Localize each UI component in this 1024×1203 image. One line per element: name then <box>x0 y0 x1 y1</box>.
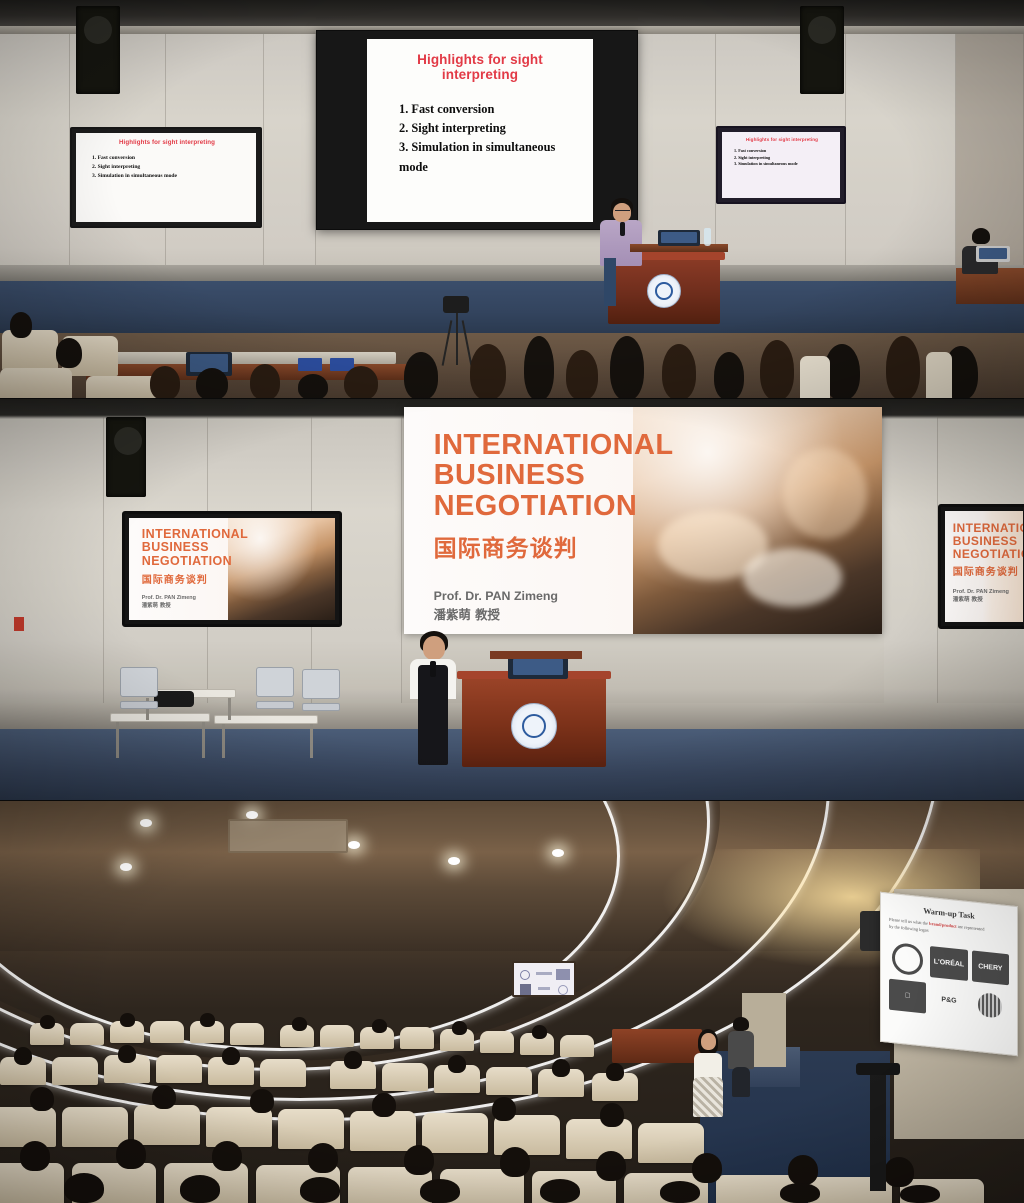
audience-head <box>470 344 506 399</box>
seat <box>494 1115 560 1155</box>
tripod-leg <box>462 320 473 366</box>
presenter-name-cn: 潘紫萌 教授 <box>953 596 1023 604</box>
slide-text-block: INTERNATIONAL BUSINESS NEGOTIATION 国际商务谈… <box>434 430 663 624</box>
right-wall-monitor: Highlights for sight interpreting 1. Fas… <box>716 126 846 204</box>
audience-head <box>10 312 32 338</box>
assistant-torso <box>728 1031 754 1069</box>
audience-head <box>30 1087 54 1111</box>
slide-title: Highlights for sight interpreting <box>383 52 577 82</box>
audience-head <box>180 1175 220 1203</box>
slide-sight-interpreting-mirror: Highlights for sight interpreting 1. Fas… <box>76 133 256 222</box>
audience-head <box>292 1017 307 1031</box>
host-checkered-dress <box>693 1077 723 1117</box>
slide-sight-interpreting-mirror: Highlights for sight interpreting 1. Fas… <box>722 132 840 198</box>
subtitle-emphasis: brand/product <box>929 921 957 929</box>
slide-presenter: Prof. Dr. PAN Zimeng 潘紫萌 教授 <box>953 588 1023 604</box>
wall-panel <box>264 34 316 304</box>
right-wall-monitor: INTERNATIONAL BUSINESS NEGOTIATION 国际商务谈… <box>938 504 1024 629</box>
slide-title-chinese: 国际商务谈判 <box>142 571 241 586</box>
slide-bullet: 3. Simulation in simultaneous mode <box>734 161 836 168</box>
slide-bullet: 2. Sight interpreting <box>399 119 577 138</box>
presenter-name-en: Prof. Dr. PAN Zimeng <box>142 595 241 603</box>
table-leg <box>228 698 231 720</box>
audience-head <box>420 1179 460 1203</box>
slide-business-negotiation: INTERNATIONAL BUSINESS NEGOTIATION 国际商务谈… <box>404 407 882 634</box>
stage-assistant <box>726 1017 756 1097</box>
audience-head <box>492 1097 516 1121</box>
panel-auditorium-wide: Warm-up Task Please tell us what the bra… <box>0 801 1024 1203</box>
laptop <box>508 657 568 679</box>
audience-head <box>372 1093 396 1117</box>
audience-head <box>150 366 180 399</box>
audience-head <box>524 336 554 399</box>
photo-blob <box>743 548 842 607</box>
seat <box>566 1119 632 1159</box>
podium-shelf <box>490 651 582 659</box>
photo-collage: Highlights for sight interpreting 1. Fas… <box>0 0 1024 1203</box>
main-projection-screen: INTERNATIONAL BUSINESS NEGOTIATION 国际商务谈… <box>404 407 882 634</box>
seat <box>0 1107 56 1147</box>
slide-title-line1: INTERNATIONAL <box>434 429 674 461</box>
display-block <box>520 984 531 995</box>
seat <box>52 1057 98 1085</box>
ceiling-spotlight <box>448 857 460 865</box>
ceiling-spotlight <box>120 863 132 871</box>
university-crest-icon <box>647 274 681 308</box>
host-head <box>701 1033 716 1050</box>
chair-back <box>302 669 340 699</box>
ceiling-speaker <box>76 6 120 94</box>
laptop <box>658 230 700 246</box>
slide-bullet: 3. Simulation in simultaneous mode <box>92 172 250 181</box>
chair <box>302 669 340 723</box>
main-projection-screen: Highlights for sight interpreting 1. Fas… <box>367 39 593 222</box>
seat <box>2 330 58 370</box>
seat <box>560 1035 594 1057</box>
audience-head <box>212 1141 242 1171</box>
slide-business-negotiation-mirror: INTERNATIONAL BUSINESS NEGOTIATION 国际商务谈… <box>945 511 1023 622</box>
seat <box>156 1055 202 1083</box>
panel-business-negotiation: INTERNATIONAL BUSINESS NEGOTIATION 国际商务谈… <box>0 399 1024 801</box>
glasses-icon <box>615 210 630 213</box>
slide-title-line1: INTERNATIONAL <box>142 527 248 541</box>
monitor-screen: Highlights for sight interpreting 1. Fas… <box>76 133 256 222</box>
display-block <box>556 969 570 980</box>
presenter-name-cn: 潘紫萌 教授 <box>434 606 663 625</box>
camera-tripod <box>440 296 474 366</box>
ceiling-air-vent <box>228 819 348 853</box>
slide-text-block: INTERNATIONAL BUSINESS NEGOTIATION 国际商务谈… <box>953 522 1023 604</box>
audience-head <box>152 1085 176 1109</box>
seat <box>206 1107 272 1147</box>
audience-head <box>20 1141 50 1171</box>
table-leg <box>222 724 225 758</box>
seat <box>422 1113 488 1153</box>
apple-logo-icon:  <box>889 979 926 1014</box>
shell-logo-icon <box>972 987 1009 1022</box>
monitor-screen: INTERNATIONAL BUSINESS NEGOTIATION 国际商务谈… <box>129 518 335 620</box>
seat <box>926 352 952 399</box>
presenter-name-cn: 潘紫萌 教授 <box>142 603 241 611</box>
slide-bullet: 2. Sight interpreting <box>92 163 250 172</box>
university-crest-icon <box>511 703 557 749</box>
stage-edge <box>0 265 1024 281</box>
seat <box>230 1023 264 1045</box>
slide-title-line3: NEGOTIATION <box>142 554 232 568</box>
wall-panel <box>846 34 956 304</box>
laptop <box>976 246 1010 262</box>
chair <box>120 667 158 721</box>
speaker-legs <box>604 258 616 306</box>
audience-head <box>344 1051 362 1069</box>
ceiling-spotlight <box>552 849 564 857</box>
audience-head <box>64 1173 104 1203</box>
chair-seat <box>256 701 294 710</box>
bag-on-table <box>154 691 194 707</box>
display-icon <box>520 970 530 980</box>
presenter-name-en: Prof. Dr. PAN Zimeng <box>953 588 1023 596</box>
audience-head <box>116 1139 146 1169</box>
left-wall-monitor: Highlights for sight interpreting 1. Fas… <box>70 127 262 228</box>
audience-head <box>14 1047 32 1065</box>
slide-presenter: Prof. Dr. PAN Zimeng 潘紫萌 教授 <box>142 595 241 611</box>
chair-back <box>120 667 158 697</box>
table-leg <box>202 722 205 758</box>
slide-title-chinese: 国际商务谈判 <box>434 529 663 563</box>
tripod-leg <box>456 313 458 365</box>
slide-presenter: Prof. Dr. PAN Zimeng 潘紫萌 教授 <box>434 587 663 624</box>
audience-head <box>606 1063 624 1081</box>
slide-business-negotiation-mirror: INTERNATIONAL BUSINESS NEGOTIATION 国际商务谈… <box>129 518 335 620</box>
ceiling-speaker <box>106 417 146 497</box>
seat <box>62 1107 128 1147</box>
table-leg <box>310 724 313 758</box>
audience-head <box>222 1047 240 1065</box>
brand-logo-grid: L'ORÉAL CHERY  P&G <box>889 942 1009 1023</box>
audience-head <box>250 1089 274 1113</box>
audience-head <box>610 336 644 399</box>
audience-head <box>308 1143 338 1173</box>
display-icon <box>558 985 568 995</box>
seat <box>150 1021 184 1043</box>
slide-bullet: 1. Fast conversion <box>92 154 250 163</box>
audience-head <box>662 344 696 399</box>
name-placard <box>298 358 322 371</box>
host-presenter <box>690 1029 726 1125</box>
ceiling-spotlight <box>246 811 258 819</box>
audience-head <box>344 366 378 399</box>
speaker-male <box>598 198 644 264</box>
stage-podium <box>612 1029 702 1063</box>
audience-head <box>692 1153 722 1183</box>
audience-head <box>56 338 82 368</box>
podium <box>462 677 606 767</box>
seat <box>278 1109 344 1149</box>
audience-head <box>118 1045 136 1063</box>
seat <box>400 1027 434 1049</box>
main-projection-frame: Highlights for sight interpreting 1. Fas… <box>316 30 638 230</box>
audience-head <box>120 1013 135 1027</box>
audience-head <box>884 1157 914 1187</box>
microphone-icon <box>430 661 436 677</box>
audience-head <box>404 352 438 399</box>
right-projection-screen: Warm-up Task Please tell us what the bra… <box>880 892 1018 1057</box>
slide-title-line2: BUSINESS <box>142 540 209 554</box>
seat <box>134 1105 200 1145</box>
wall-information-display <box>512 961 576 997</box>
seat <box>320 1025 354 1047</box>
audience-head <box>196 368 228 399</box>
table-leg <box>116 722 119 758</box>
seat <box>0 368 72 399</box>
audience-head <box>660 1181 700 1203</box>
seat <box>260 1059 306 1087</box>
wall-panel <box>884 417 938 717</box>
assistant-legs <box>732 1067 750 1097</box>
slide-title: Highlights for sight interpreting <box>84 139 250 146</box>
slide-title-line3: NEGOTIATION <box>953 547 1023 561</box>
monitor-screen: Highlights for sight interpreting 1. Fas… <box>722 132 840 198</box>
left-wall-monitor: INTERNATIONAL BUSINESS NEGOTIATION 国际商务谈… <box>122 511 342 627</box>
podium <box>608 258 720 324</box>
slide-title-chinese: 国际商务谈判 <box>953 563 1023 578</box>
seat <box>382 1063 428 1091</box>
seat <box>480 1031 514 1053</box>
slide-title-line3: NEGOTIATION <box>434 490 638 522</box>
seat <box>638 1123 704 1163</box>
audience-head <box>200 1013 215 1027</box>
audience-head <box>760 340 794 399</box>
video-camera-icon <box>443 296 469 313</box>
loreal-logo-icon: L'ORÉAL <box>930 946 967 981</box>
audience-head <box>500 1147 530 1177</box>
audience-head <box>532 1025 547 1039</box>
chair-back <box>256 667 294 697</box>
seat <box>486 1067 532 1095</box>
subtitle-part-b: are represented <box>957 924 985 932</box>
speaker-head <box>423 636 445 660</box>
panel-sight-interpreting: Highlights for sight interpreting 1. Fas… <box>0 0 1024 399</box>
audience-head <box>540 1179 580 1203</box>
audience-head <box>298 374 328 399</box>
fire-alarm-icon <box>14 617 24 631</box>
wall-panel <box>0 34 70 304</box>
ceiling-band <box>0 0 1024 26</box>
audience-head <box>250 364 280 399</box>
slide-title: Highlights for sight interpreting <box>728 137 836 142</box>
monitor-screen: INTERNATIONAL BUSINESS NEGOTIATION 国际商务谈… <box>945 511 1023 622</box>
audience-head <box>300 1177 340 1203</box>
display-bar <box>536 972 552 975</box>
slide-title-line2: BUSINESS <box>434 459 585 491</box>
wall-panel <box>0 417 104 717</box>
starbucks-logo-icon <box>889 942 926 977</box>
water-bottle <box>704 228 711 246</box>
ceiling-spotlight <box>348 841 360 849</box>
microphone-icon <box>620 222 625 236</box>
assistant-hair <box>733 1017 749 1031</box>
display-bar <box>538 987 550 990</box>
chery-logo-icon: CHERY <box>972 950 1009 985</box>
audience-head <box>900 1185 940 1203</box>
floor-light-stand <box>870 1071 886 1191</box>
shell-mark <box>978 992 1002 1019</box>
audience-head <box>566 350 598 399</box>
audience-head <box>552 1059 570 1077</box>
slide-bullet: 3. Simulation in simultaneous mode <box>399 138 577 176</box>
tripod-leg <box>442 320 453 366</box>
ceiling-spotlight <box>140 819 152 827</box>
audience-head <box>780 1183 820 1203</box>
pinafore-dress <box>418 665 448 765</box>
ceiling-speaker <box>800 6 844 94</box>
speaker-female <box>404 631 462 799</box>
seat <box>70 1023 104 1045</box>
audience-head <box>788 1155 818 1185</box>
audience-head <box>452 1021 467 1035</box>
seat <box>800 356 830 399</box>
chair-seat <box>120 701 158 710</box>
stage-light-icon <box>856 1063 900 1075</box>
audience-head <box>714 352 744 399</box>
pg-logo-icon: P&G <box>930 983 967 1018</box>
audience-head <box>886 336 920 399</box>
starbucks-mark <box>892 942 923 976</box>
seat <box>350 1111 416 1151</box>
slide-text-block: INTERNATIONAL BUSINESS NEGOTIATION 国际商务谈… <box>142 528 241 610</box>
slide-sight-interpreting: Highlights for sight interpreting 1. Fas… <box>367 39 593 222</box>
slide-warmup-task: Warm-up Task Please tell us what the bra… <box>881 893 1017 1055</box>
photo-blob <box>783 448 868 539</box>
audience-head <box>448 1055 466 1073</box>
stage-floor <box>0 281 1024 333</box>
chair <box>256 667 294 721</box>
audience-head <box>372 1019 387 1033</box>
audience-head <box>596 1151 626 1181</box>
presenter-name-en: Prof. Dr. PAN Zimeng <box>434 587 663 606</box>
audience-head <box>404 1145 434 1175</box>
audience-head <box>600 1103 624 1127</box>
seat <box>86 376 158 399</box>
attendant-hair <box>972 228 990 244</box>
slide-bullet: 1. Fast conversion <box>399 100 577 119</box>
audience-head <box>40 1015 55 1029</box>
chair-seat <box>302 703 340 712</box>
